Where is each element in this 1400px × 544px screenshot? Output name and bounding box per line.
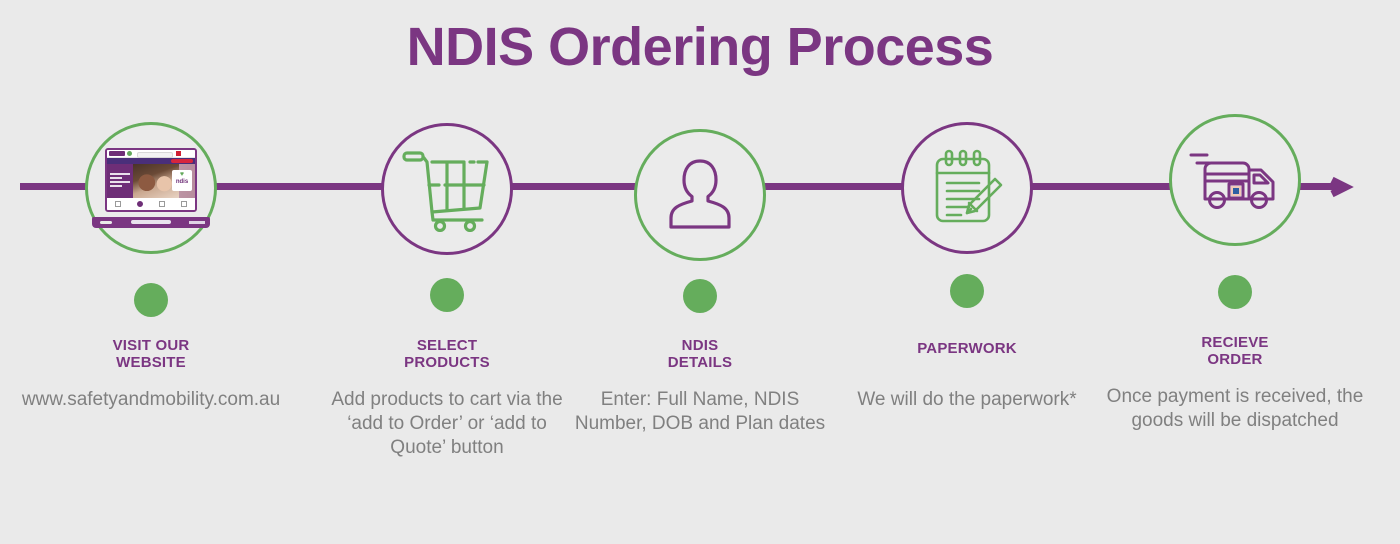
heart-icon: ♥ (172, 170, 192, 179)
step-1-dot (134, 283, 168, 317)
site-logo-mark (127, 151, 132, 156)
laptop-screen: ♥ ndis (105, 148, 197, 212)
step-4-dot (950, 274, 984, 308)
laptop-trackpad (131, 220, 171, 224)
shopping-cart-icon (381, 123, 513, 255)
step-3-body: Enter: Full Name, NDIS Number, DOB and P… (570, 388, 830, 436)
tile-3 (151, 199, 173, 212)
step-5-circle (1169, 114, 1301, 246)
step-1-heading-line1: VISIT OUR (21, 337, 281, 354)
i-love-ndis-badge: ♥ ndis (172, 170, 192, 191)
delivery-truck-icon (1169, 114, 1301, 246)
site-logo (109, 151, 125, 156)
step-1-circle: ♥ ndis (85, 122, 217, 254)
laptop-website-icon: ♥ ndis (85, 122, 217, 254)
website-topbar (107, 150, 195, 158)
step-3-heading-line2: DETAILS (570, 354, 830, 371)
website-category-tiles (107, 198, 195, 212)
tile-1 (107, 199, 129, 212)
step-3-circle (634, 129, 766, 261)
site-nav-pill (171, 159, 193, 163)
step-5-heading-line1: RECIEVE (1105, 334, 1365, 351)
step-2-body: Add products to cart via the ‘add to Ord… (317, 388, 577, 459)
person-icon (634, 129, 766, 261)
step-2-circle (381, 123, 513, 255)
step-2-heading-line1: SELECT (317, 337, 577, 354)
step-3-heading-line1: NDIS (570, 337, 830, 354)
step-2-heading-line2: PRODUCTS (317, 354, 577, 371)
step-5-heading-line2: ORDER (1105, 351, 1365, 368)
step-1-heading: VISIT OUR WEBSITE (21, 337, 281, 372)
step-3-heading: NDIS DETAILS (570, 337, 830, 372)
step-2-dot (430, 278, 464, 312)
site-search-box (137, 152, 173, 158)
step-5-body: Once payment is received, the goods will… (1105, 385, 1365, 433)
arrow-right-icon (1326, 168, 1362, 206)
step-4-heading-line1: PAPERWORK (837, 340, 1097, 357)
laptop-base-notch (100, 221, 112, 224)
tile-2 (129, 199, 151, 212)
step-4-circle (901, 122, 1033, 254)
tile-4 (173, 199, 195, 212)
ndis-ordering-process-infographic: NDIS Ordering Process (0, 0, 1400, 544)
laptop-base-dots (189, 221, 205, 224)
step-5-heading: RECIEVE ORDER (1105, 334, 1365, 369)
page-title: NDIS Ordering Process (0, 18, 1400, 77)
step-5-dot (1218, 275, 1252, 309)
site-cart-icon (176, 151, 181, 156)
step-2-heading: SELECT PRODUCTS (317, 337, 577, 372)
notepad-pencil-icon (901, 122, 1033, 254)
step-4-heading: PAPERWORK (837, 340, 1097, 357)
step-3-dot (683, 279, 717, 313)
step-1-body: www.safetyandmobility.com.au (0, 388, 311, 412)
ndis-badge-label: ndis (172, 179, 192, 186)
laptop-base (92, 217, 210, 228)
step-4-body: We will do the paperwork* (837, 388, 1097, 412)
step-1-heading-line2: WEBSITE (21, 354, 281, 371)
website-hero-banner: ♥ ndis (107, 164, 195, 198)
package-label (1231, 186, 1241, 196)
hero-headline-lines (110, 173, 130, 189)
